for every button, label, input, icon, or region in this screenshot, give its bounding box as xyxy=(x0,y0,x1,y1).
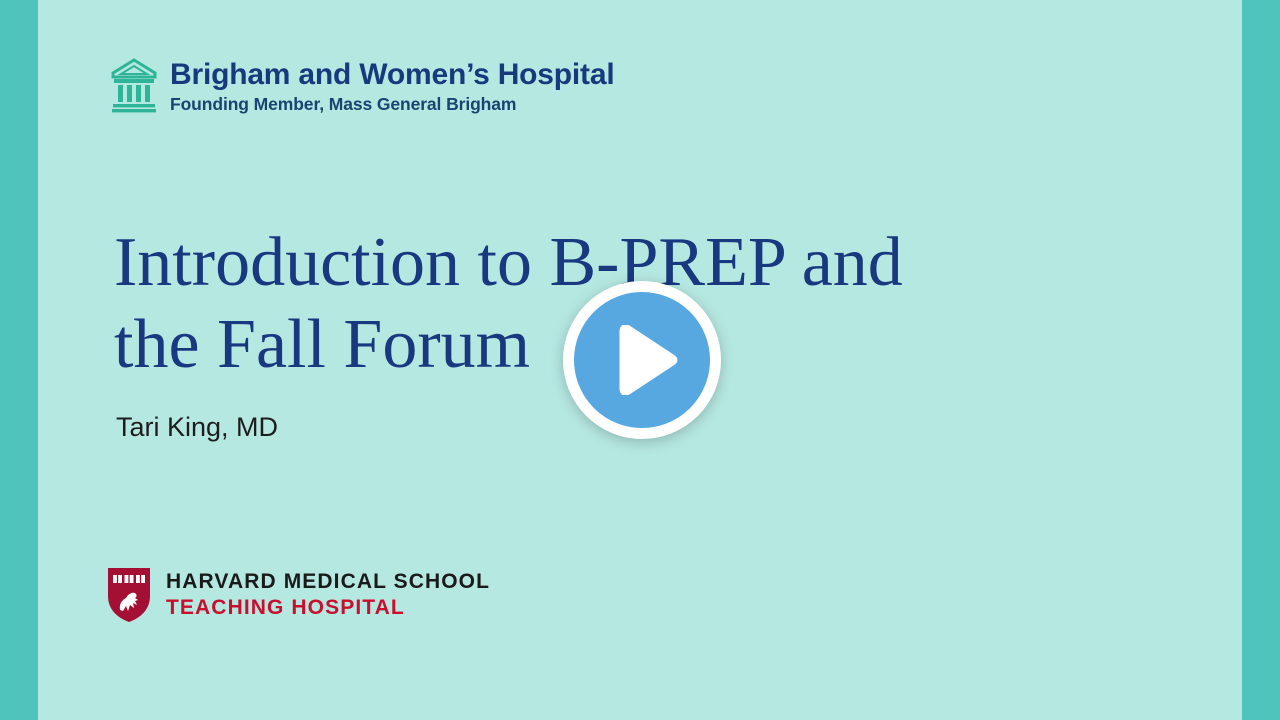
affiliation-designation: TEACHING HOSPITAL xyxy=(166,595,490,621)
hospital-name: Brigham and Women’s Hospital xyxy=(170,58,614,92)
letterbox-bar-left xyxy=(0,0,38,720)
hospital-logo-text: Brigham and Women’s Hospital Founding Me… xyxy=(170,58,614,115)
affiliation-logo-text: HARVARD MEDICAL SCHOOL TEACHING HOSPITAL xyxy=(166,569,490,621)
video-player[interactable]: Brigham and Women’s Hospital Founding Me… xyxy=(0,0,1280,720)
classical-building-columns-icon xyxy=(111,58,157,116)
play-triangle-icon xyxy=(607,325,678,395)
presenter-name: Tari King, MD xyxy=(116,410,278,444)
play-button[interactable] xyxy=(563,281,721,439)
hospital-logo-lockup: Brigham and Women’s Hospital Founding Me… xyxy=(111,58,614,116)
affiliation-school-name: HARVARD MEDICAL SCHOOL xyxy=(166,569,490,595)
hospital-tagline: Founding Member, Mass General Brigham xyxy=(170,93,614,115)
harvard-shield-icon xyxy=(106,566,152,624)
letterbox-bar-right xyxy=(1242,0,1280,720)
affiliation-logo-lockup: HARVARD MEDICAL SCHOOL TEACHING HOSPITAL xyxy=(106,566,490,624)
